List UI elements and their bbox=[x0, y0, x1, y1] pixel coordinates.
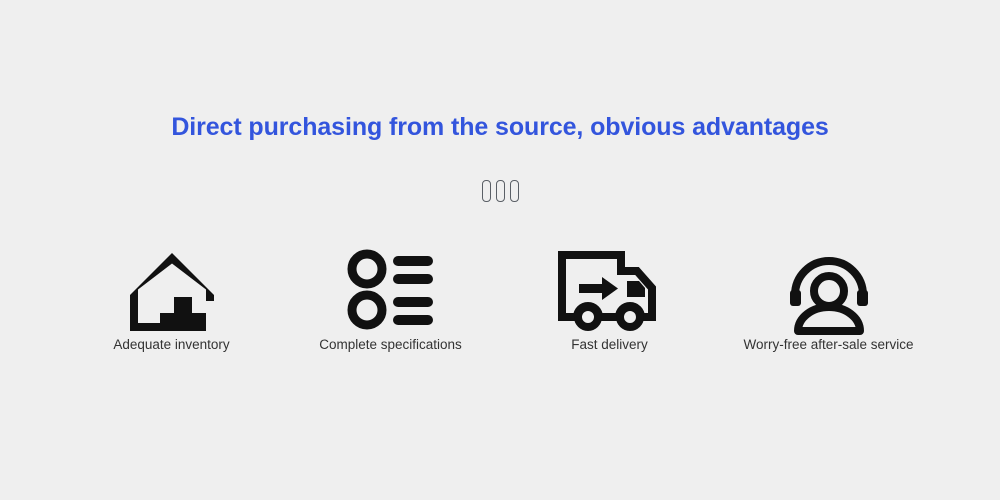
triple-zero-divider bbox=[0, 180, 1000, 202]
feature-list: Adequate inventory Complete specific bbox=[62, 243, 938, 352]
feature-label: Worry-free after-sale service bbox=[743, 337, 913, 352]
delivery-truck-icon bbox=[555, 243, 665, 335]
feature-item-specifications: Complete specifications bbox=[281, 243, 500, 352]
page-title: Direct purchasing from the source, obvio… bbox=[0, 113, 1000, 142]
feature-item-inventory: Adequate inventory bbox=[62, 243, 281, 352]
feature-label: Fast delivery bbox=[571, 337, 648, 352]
feature-item-support: Worry-free after-sale service bbox=[719, 243, 938, 352]
promo-banner: Direct purchasing from the source, obvio… bbox=[0, 0, 1000, 500]
divider-glyph-2 bbox=[496, 180, 505, 202]
warehouse-house-icon bbox=[122, 243, 222, 335]
feature-label: Adequate inventory bbox=[113, 337, 229, 352]
specification-list-icon bbox=[341, 243, 441, 335]
feature-item-delivery: Fast delivery bbox=[500, 243, 719, 352]
headset-support-person-icon bbox=[779, 243, 879, 335]
divider-glyph-1 bbox=[482, 180, 491, 202]
divider-glyph-3 bbox=[510, 180, 519, 202]
feature-label: Complete specifications bbox=[319, 337, 462, 352]
